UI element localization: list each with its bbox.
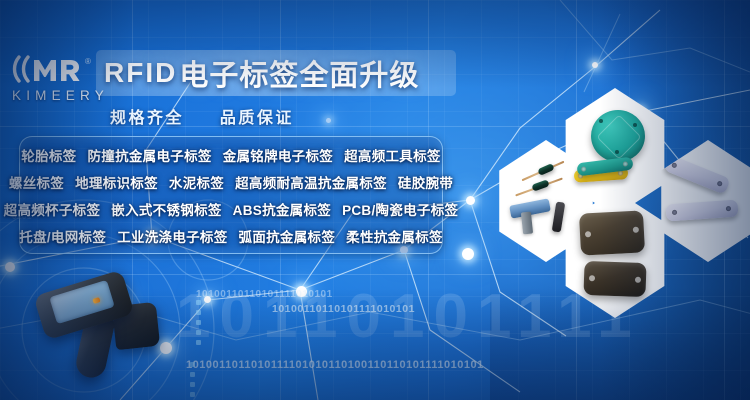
- page-title: RFID电子标签全面升级: [104, 52, 454, 94]
- title-en: RFID: [104, 57, 179, 89]
- tag-item[interactable]: 嵌入式不锈钢标签: [111, 199, 221, 219]
- tag-item[interactable]: 金属铭牌电子标签: [223, 145, 333, 165]
- tag-item[interactable]: 地理标识标签: [75, 172, 158, 192]
- tag-item[interactable]: PCB/陶瓷电子标签: [342, 199, 458, 219]
- kmr-monogram-icon: ®: [12, 52, 104, 86]
- tag-item[interactable]: ABS抗金属标签: [233, 199, 331, 219]
- tag-item[interactable]: 超高频耐高温抗金属标签: [235, 172, 387, 192]
- brand-wordmark: KIMEERY: [12, 88, 104, 103]
- svg-text:®: ®: [85, 57, 91, 66]
- dot-column-right: [190, 362, 195, 400]
- tag-item[interactable]: 螺丝标签: [9, 172, 64, 192]
- tag-item[interactable]: 超高频杯子标签: [4, 199, 101, 219]
- title-cn: 电子标签全面升级: [179, 52, 419, 94]
- brand-logo[interactable]: ® KIMEERY: [12, 52, 104, 103]
- handheld-rfid-reader[interactable]: [30, 276, 180, 394]
- subtitle-left: 规格齐全: [110, 110, 184, 127]
- dot-column-left: [196, 300, 201, 350]
- tag-item[interactable]: 硅胶腕带: [398, 172, 453, 192]
- binary-string-1: 10100110110101111010101: [196, 289, 333, 300]
- tag-item[interactable]: 防撞抗金属电子标签: [87, 145, 211, 165]
- tag-row: 轮胎标签 防撞抗金属电子标签 金属铭牌电子标签 超高频工具标签: [20, 141, 442, 168]
- tag-item[interactable]: 托盘/电网标签: [19, 226, 106, 246]
- tag-item[interactable]: 弧面抗金属标签: [239, 226, 336, 246]
- tag-row: 超高频杯子标签 嵌入式不锈钢标签 ABS抗金属标签 PCB/陶瓷电子标签: [20, 195, 442, 222]
- binary-string-2: 10100110110101111010101: [272, 303, 415, 315]
- tag-item[interactable]: 水泥标签: [169, 172, 224, 192]
- rfid-promo-banner: 10110101111 10100110110101111010101 1010…: [0, 0, 750, 400]
- subtitle-right: 品质保证: [220, 110, 294, 127]
- page-subtitle: 规格齐全 品质保证: [110, 104, 294, 128]
- tag-item[interactable]: 超高频工具标签: [344, 145, 441, 165]
- tag-item[interactable]: 轮胎标签: [21, 145, 76, 165]
- product-tag-panel: 轮胎标签 防撞抗金属电子标签 金属铭牌电子标签 超高频工具标签 螺丝标签 地理标…: [19, 136, 443, 254]
- binary-string-3: 1010011011010111101010110100110110101111…: [186, 359, 484, 371]
- round-anti-metal-tag: [591, 110, 645, 162]
- tag-item[interactable]: 工业洗涤电子标签: [117, 226, 227, 246]
- tag-row: 托盘/电网标签 工业洗涤电子标签 弧面抗金属标签 柔性抗金属标签: [20, 222, 442, 249]
- tag-row: 螺丝标签 地理标识标签 水泥标签 超高频耐高温抗金属标签 硅胶腕带: [20, 168, 442, 195]
- tag-item[interactable]: 柔性抗金属标签: [346, 226, 443, 246]
